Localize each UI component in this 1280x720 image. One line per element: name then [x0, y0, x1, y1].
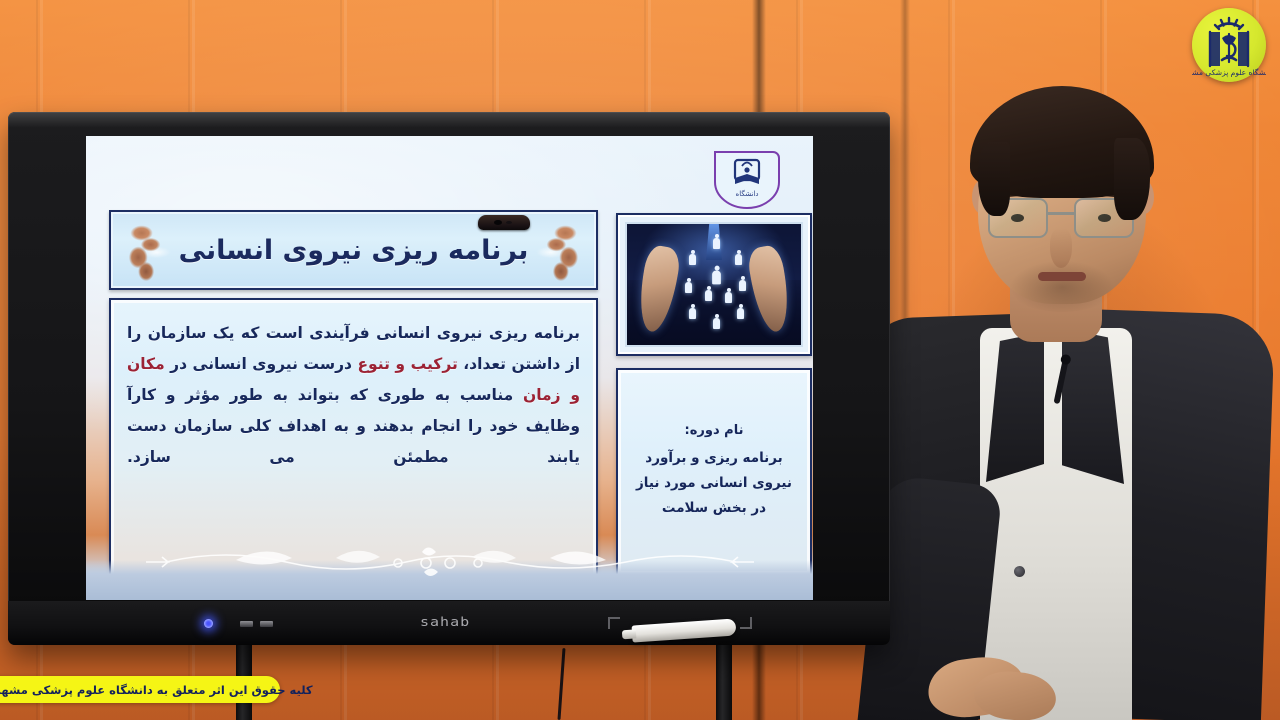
person-node-icon — [725, 292, 732, 303]
presenter-mouth — [1038, 272, 1086, 281]
person-node-icon — [739, 280, 746, 291]
body-seg-1: تعداد، — [458, 355, 506, 373]
presenter-nose — [1050, 228, 1072, 268]
slide-title: برنامه ریزی نیروی انسانی — [179, 235, 529, 266]
display-button-1[interactable] — [240, 621, 253, 627]
body-seg-3: مناسب به — [435, 386, 523, 404]
presenter-jacket-button — [1014, 566, 1025, 577]
logo-caption: دانشگاه علوم پزشکی مشهد — [1192, 68, 1266, 77]
slide-body-paragraph: برنامه ریزی نیروی انسانی فرآیندی است که … — [127, 318, 580, 473]
person-node-icon — [689, 254, 696, 265]
display-stand-right-leg — [716, 645, 732, 720]
slide-image-frame — [616, 213, 812, 356]
person-node-icon — [705, 290, 712, 301]
presenter — [862, 60, 1280, 720]
course-name-label: نام دوره: — [685, 423, 744, 438]
person-node-icon — [689, 308, 696, 319]
person-node-icon — [712, 271, 721, 285]
person-node-icon — [735, 254, 742, 265]
svg-text:دانشگاه: دانشگاه — [736, 189, 759, 198]
display-screen[interactable]: دانشگاه برنامه ریزی نیروی انسانی برنامه … — [86, 136, 813, 600]
body-highlight-1: ترکیب و تنوع — [357, 355, 457, 373]
person-node-icon — [713, 238, 720, 249]
copyright-text: کلیه حقوق این اثر متعلق به دانشگاه علوم … — [0, 683, 323, 697]
display-corner-mark-right — [740, 617, 752, 629]
display-webcam-icon — [478, 215, 530, 230]
course-name-value: برنامه ریزی و برآورد نیروی انسانی مورد ن… — [630, 446, 798, 521]
slide-university-logo: دانشگاه — [711, 148, 783, 210]
power-led-indicator — [204, 619, 213, 628]
display-button-2[interactable] — [260, 621, 273, 627]
presentation-slide: دانشگاه برنامه ریزی نیروی انسانی برنامه … — [86, 136, 813, 600]
display-bottom-bezel: sahab — [8, 601, 890, 645]
copyright-banner: کلیه حقوق این اثر متعلق به دانشگاه علوم … — [0, 676, 280, 703]
body-seg-2: درست نیروی انسانی در — [165, 355, 358, 373]
channel-logo: دانشگاه علوم پزشکی مشهد — [1192, 8, 1266, 82]
person-node-icon — [737, 308, 744, 319]
person-node-icon — [713, 318, 720, 329]
display-brand-logo: sahab — [420, 615, 470, 629]
interactive-display[interactable]: دانشگاه برنامه ریزی نیروی انسانی برنامه … — [8, 112, 890, 645]
display-bezel-gloss — [8, 112, 890, 128]
video-frame: دانشگاه برنامه ریزی نیروی انسانی برنامه … — [0, 0, 1280, 720]
stylus-pen[interactable] — [632, 618, 737, 642]
presenter-glasses-bridge — [1048, 212, 1074, 215]
decorative-flower-icon-left — [117, 219, 173, 283]
decorative-flourish-icon — [86, 542, 813, 576]
slide-image-hands-network — [625, 222, 803, 347]
display-corner-mark-left — [608, 617, 620, 629]
person-node-icon — [685, 282, 692, 293]
decorative-flower-icon-right — [534, 219, 590, 283]
